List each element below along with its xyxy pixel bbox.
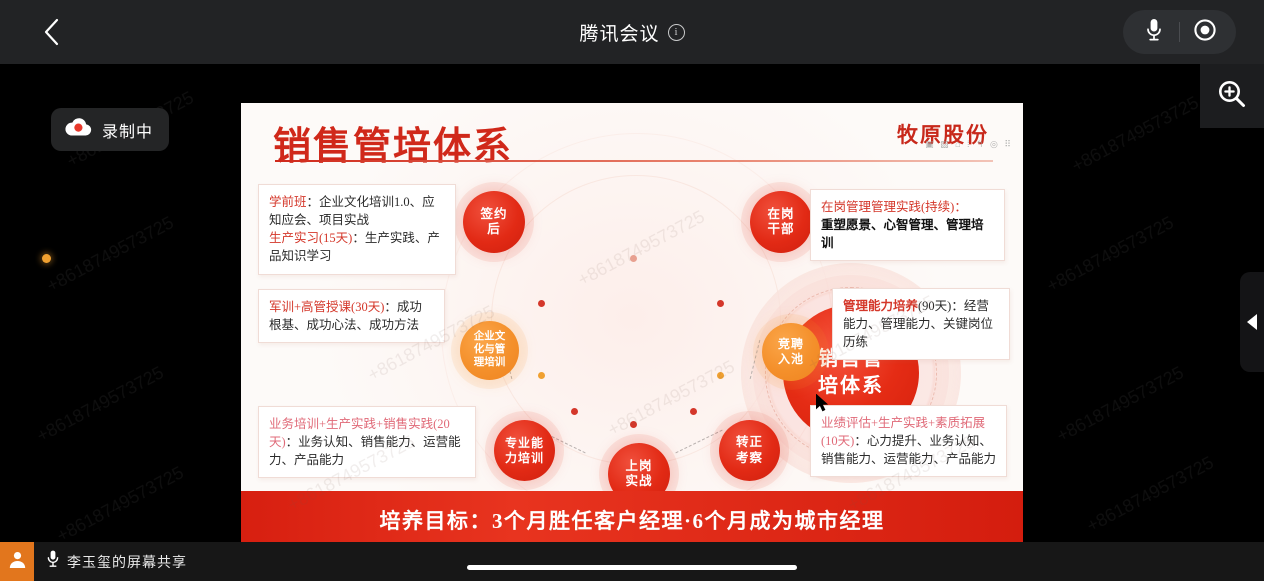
speaking-indicator-dot xyxy=(42,254,51,263)
zoom-in-button[interactable] xyxy=(1200,64,1264,128)
mouse-cursor xyxy=(816,394,830,419)
triangle-left-icon xyxy=(1247,314,1257,330)
textbox-preclass-label: 学前班 xyxy=(269,195,307,209)
magnifier-plus-icon xyxy=(1215,77,1249,116)
screen-share-stage: +8618749573725 +8618749573725 +861874957… xyxy=(0,64,1264,542)
circle-compete-into-pool: 竞聘 入池 xyxy=(762,323,820,381)
info-icon[interactable]: i xyxy=(668,24,685,41)
top-action-group xyxy=(1123,10,1236,54)
recording-label: 录制中 xyxy=(102,118,153,142)
textbox-preclass: 学前班：企业文化培训1.0、应知应会、项目实战 生产实习(15天)：生产实践、产… xyxy=(258,184,456,275)
share-mic-button[interactable] xyxy=(46,549,60,574)
watermark: +8618749573725 xyxy=(53,462,187,542)
circle-confirmation-review: 转正 考察 xyxy=(719,420,780,481)
ring-dot xyxy=(630,255,637,262)
meeting-title-wrap: 腾讯会议 i xyxy=(0,0,1264,64)
watermark: +8618749573725 xyxy=(33,362,167,447)
ring-dot xyxy=(717,300,724,307)
record-icon xyxy=(1192,17,1218,48)
textbox-onjob: 在岗管理管理实践(持续)： 重塑愿景、心智管理、管理培训 xyxy=(810,189,1005,261)
circle-label-line: 企业文 xyxy=(474,331,506,344)
microphone-button[interactable] xyxy=(1129,10,1179,54)
circle-onjob-cadre: 在岗 干部 xyxy=(750,191,812,253)
circle-label-line: 实战 xyxy=(625,474,652,489)
textbox-preclass-label2: 生产实习(15天) xyxy=(269,231,352,245)
microphone-icon xyxy=(1144,17,1164,48)
textbox-military-label: 军训+高管授课(30天) xyxy=(269,300,384,314)
circle-culture-mgmt-training: 企业文 化与管 理培训 xyxy=(460,321,519,380)
circle-label-line: 后 xyxy=(480,222,507,237)
circle-label-line: 签约 xyxy=(480,207,507,222)
circle-label-line: 力培训 xyxy=(505,451,544,466)
textbox-business: 业务培训+生产实践+销售实践(20天)：业务认知、销售能力、运营能力、产品能力 xyxy=(258,406,476,478)
circle-label-line: 专业能 xyxy=(505,436,544,451)
presentation-slide: 销售管培体系 牧原股份 ▣ ▨ ⌂ ⁞ ↰ ◎ ⠿ 销售管 培体系 xyxy=(241,103,1023,542)
circle-label-line: 竞聘 xyxy=(778,337,804,352)
textbox-military: 军训+高管授课(30天)：成功根基、成功心法、成功方法 xyxy=(258,289,445,343)
screen-share-label: 李玉玺的屏幕共享 xyxy=(67,552,187,572)
textbox-onjob-text: 重塑愿景、心智管理、管理培训 xyxy=(821,216,994,252)
ring-dot xyxy=(690,408,697,415)
title-underline xyxy=(275,160,993,162)
user-avatar-icon xyxy=(8,550,27,574)
circle-signed: 签约 后 xyxy=(463,191,525,253)
bottom-bar: 李玉玺的屏幕共享 xyxy=(0,542,1264,581)
watermark: +8618749573725 xyxy=(1053,362,1187,447)
circle-professional-ability-training: 专业能 力培训 xyxy=(494,420,555,481)
slide-footer-banner: 培养目标：3个月胜任客户经理·6个月成为城市经理 xyxy=(241,491,1023,542)
circle-label-line: 入池 xyxy=(778,352,804,367)
circle-label-line: 理培训 xyxy=(474,357,506,370)
cloud-record-icon xyxy=(63,116,93,143)
textbox-business-text: ：业务认知、销售能力、运营能力、产品能力 xyxy=(269,435,461,467)
slide-footer-text: 培养目标：3个月胜任客户经理·6个月成为城市经理 xyxy=(379,505,884,535)
watermark: +8618749573725 xyxy=(1043,212,1177,297)
circle-label-line: 在岗 xyxy=(767,207,794,222)
circle-label-line: 考察 xyxy=(736,451,763,466)
textbox-mgmt-ability-label: 管理能力培养 xyxy=(843,299,918,313)
ring-dot xyxy=(538,300,545,307)
home-indicator[interactable] xyxy=(467,565,797,570)
ring-dot xyxy=(571,408,578,415)
ring-dot xyxy=(717,372,724,379)
circle-label-line: 转正 xyxy=(736,435,763,450)
microphone-small-icon xyxy=(46,549,60,574)
recording-badge[interactable]: 录制中 xyxy=(51,108,169,151)
avatar xyxy=(0,542,34,581)
record-button[interactable] xyxy=(1180,10,1230,54)
top-bar: 腾讯会议 i xyxy=(0,0,1264,64)
ring-dot xyxy=(538,372,545,379)
brand-marks: ▣ ▨ ⌂ ⁞ ↰ ◎ ⠿ xyxy=(925,139,1013,150)
circle-label-line: 化与管 xyxy=(474,344,506,357)
panel-toggle-button[interactable] xyxy=(1240,272,1264,372)
page-title: 腾讯会议 xyxy=(579,19,659,46)
circle-label-line: 干部 xyxy=(767,222,794,237)
textbox-performance: 业绩评估+生产实践+素质拓展(10天)：心力提升、业务认知、销售能力、运营能力、… xyxy=(810,405,1007,477)
textbox-onjob-label: 在岗管理管理实践(持续)： xyxy=(821,198,994,216)
watermark: +8618749573725 xyxy=(1083,452,1217,537)
textbox-mgmt-ability: 管理能力培养(90天)：经营能力、管理能力、关键岗位历练 xyxy=(832,288,1010,360)
circle-label-line: 上岗 xyxy=(625,459,652,474)
watermark: +8618749573725 xyxy=(1068,92,1202,177)
ring-dot xyxy=(630,421,637,428)
watermark: +8618749573725 xyxy=(43,212,177,297)
